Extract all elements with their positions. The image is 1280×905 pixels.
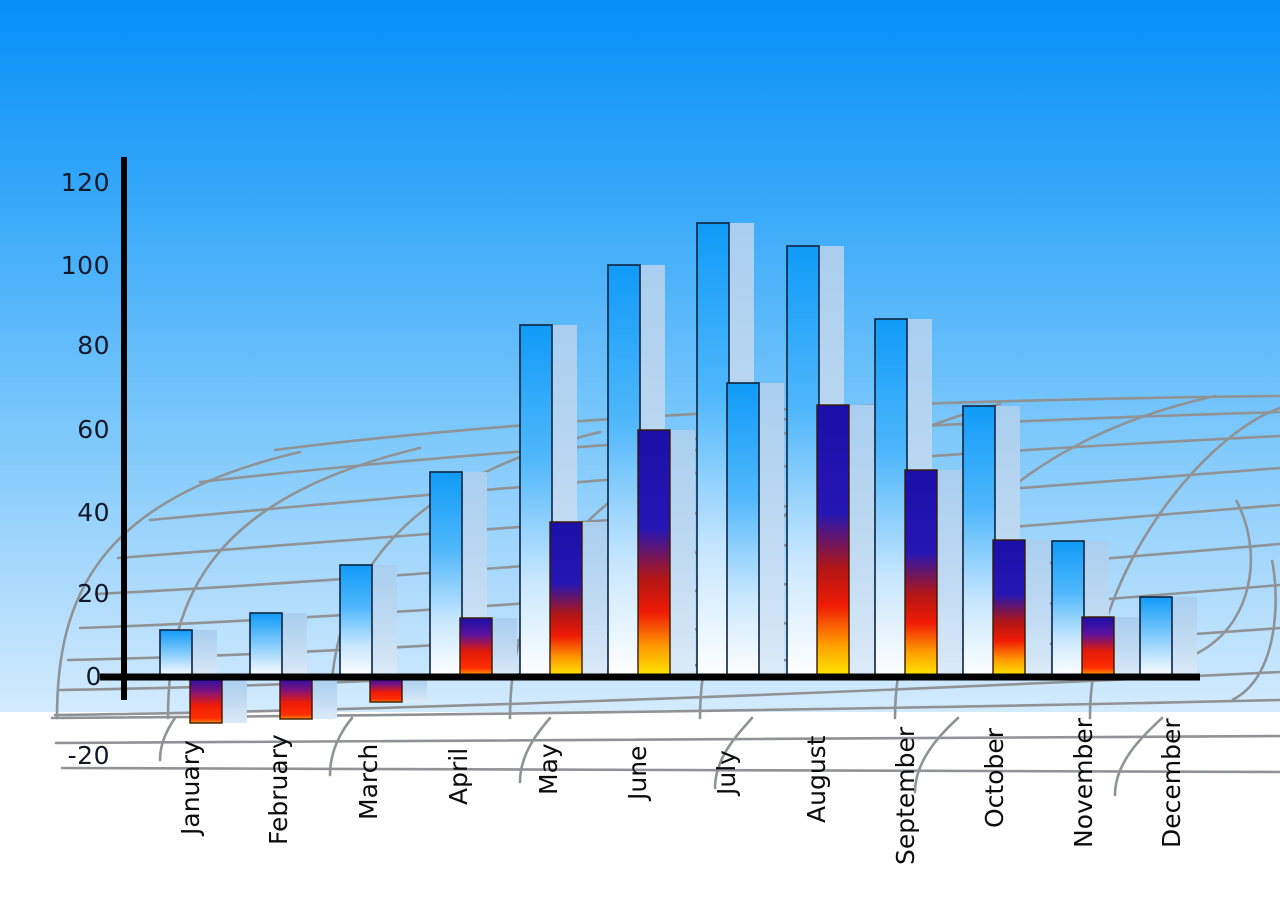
xtick-august: August [804,736,829,824]
xtick-december: December [1159,718,1184,848]
ytick-40: 40 [48,500,110,525]
xtick-january: January [178,740,203,835]
xtick-june: June [625,746,650,800]
ytick-20: 20 [48,581,110,606]
xtick-may: May [536,743,561,795]
ytick-120: 120 [48,170,110,195]
ytick-0: 0 [48,664,102,689]
xtick-april: April [446,748,471,805]
chart-canvas: 120 100 80 60 40 20 0 -20 January Februa… [0,0,1280,905]
ytick-neg20: -20 [48,743,110,768]
ytick-80: 80 [48,333,110,358]
xtick-november: November [1071,718,1096,848]
ytick-60: 60 [48,417,110,442]
xtick-march: March [356,744,381,820]
xtick-july: July [714,750,739,795]
xtick-october: October [982,728,1007,828]
ytick-100: 100 [48,253,110,278]
xtick-september: September [893,727,918,865]
xtick-february: February [266,734,291,845]
